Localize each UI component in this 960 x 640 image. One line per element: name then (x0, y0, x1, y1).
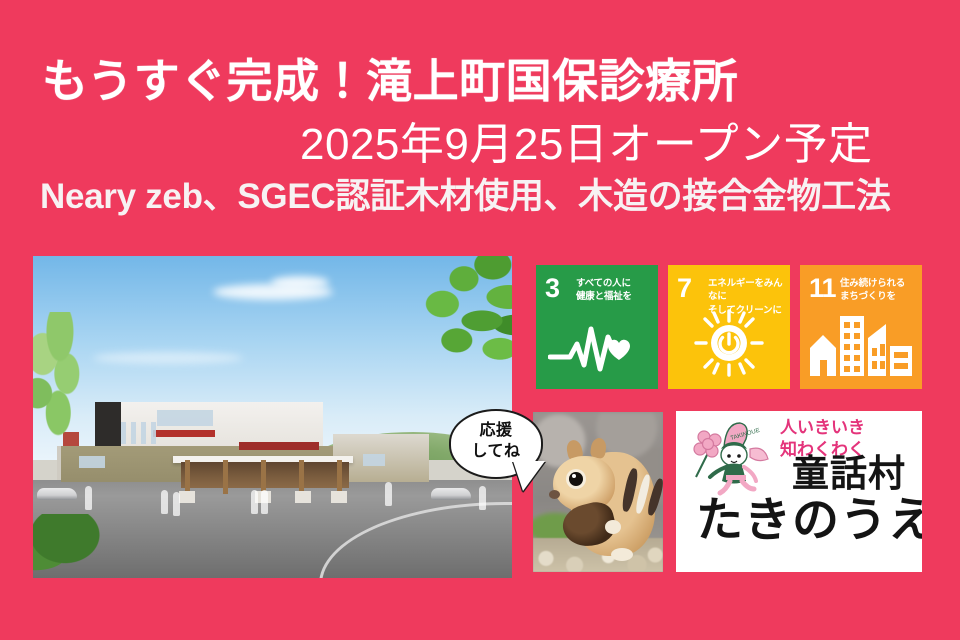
city-buildings-icon (800, 315, 922, 381)
chipmunk-foot (611, 548, 633, 561)
parked-car (37, 488, 77, 500)
chipmunk-paw (605, 520, 621, 534)
column-base (179, 491, 195, 503)
headline-block: もうすぐ完成！滝上町国保診療所 2025年9月25日オープン予定 Neary z… (0, 0, 960, 240)
cloud (271, 276, 329, 289)
construction-spec-line: Neary zeb、SGEC認証木材使用、木造の接合金物工法 (40, 176, 891, 218)
sdg-goals-row: 3 すべての人に 健康と福祉を 7 エネルギーをみんなに そしてクリーンに (536, 265, 924, 389)
town-logo-name: たきのうえ (696, 497, 922, 544)
person-silhouette (251, 490, 258, 514)
parked-car (431, 488, 471, 500)
heartbeat-icon (536, 315, 658, 381)
town-logo-kanji: 童話村 (792, 455, 906, 492)
building-red-accent (153, 430, 215, 437)
canopy-column (299, 460, 304, 494)
canopy-column (337, 460, 342, 494)
sdg-label: すべての人に 健康と福祉を (576, 277, 654, 304)
speech-bubble: 応援 してね (449, 409, 543, 479)
speech-bubble-text: 応援 してね (451, 420, 541, 462)
speech-bubble-line2: してね (451, 441, 541, 462)
poster-root: もうすぐ完成！滝上町国保診療所 2025年9月25日オープン予定 Neary z… (0, 0, 960, 640)
speech-bubble-line1: 応援 (451, 420, 541, 441)
window (141, 422, 146, 444)
sdg-goal-3: 3 すべての人に 健康と福祉を (536, 265, 658, 389)
sdg-label-line1: エネルギーをみんなに (708, 277, 786, 304)
window (121, 422, 126, 444)
sdg-number: 11 (809, 275, 836, 302)
person-silhouette (173, 492, 180, 516)
canopy-column (185, 460, 190, 494)
building-rendering-photo (33, 256, 512, 578)
window-strip (363, 454, 385, 466)
window-strip (157, 410, 213, 426)
bush (33, 514, 125, 578)
sdg-goal-11: 11 住み続けられる まちづくりを (800, 265, 922, 389)
opening-date-line: 2025年9月25日オープン予定 (300, 120, 873, 171)
sdg-number: 3 (545, 275, 559, 302)
column-base (331, 491, 347, 503)
window-strip (79, 456, 105, 468)
canopy-column (261, 460, 266, 494)
cloud (93, 352, 243, 364)
sdg-number: 7 (677, 275, 691, 302)
building-red-accent (239, 442, 319, 450)
sdg-label-line2: まちづくりを (840, 290, 918, 303)
page-title: もうすぐ完成！滝上町国保診療所 (42, 56, 738, 107)
window (131, 422, 136, 444)
person-silhouette (161, 490, 168, 514)
town-slogan-line1: 人いきいき (780, 417, 865, 439)
person-silhouette (479, 486, 486, 510)
sun-power-icon (668, 315, 790, 381)
sdg-goal-7: 7 エネルギーをみんなに そしてクリーンに (668, 265, 790, 389)
sdg-label-line1: 住み続けられる (840, 277, 918, 290)
speech-bubble-tail (513, 461, 545, 491)
tree-foliage (338, 256, 512, 388)
town-logo-panel: TAKINOUE 人いきいき 知わくわく 童話村 たきのうえ (676, 411, 922, 572)
sdg-label: 住み続けられる まちづくりを (840, 277, 918, 304)
canopy-column (223, 460, 228, 494)
person-silhouette (85, 486, 92, 510)
sdg-label-line1: すべての人に (576, 277, 654, 290)
window (151, 422, 156, 444)
tree-foliage (33, 312, 115, 452)
chipmunk-eye (569, 472, 583, 486)
sdg-label-line2: 健康と福祉を (576, 290, 654, 303)
person-silhouette (261, 490, 268, 514)
chipmunk-nose (549, 490, 560, 499)
column-base (295, 491, 311, 503)
chipmunk-photo (533, 412, 663, 572)
person-silhouette (385, 482, 392, 506)
